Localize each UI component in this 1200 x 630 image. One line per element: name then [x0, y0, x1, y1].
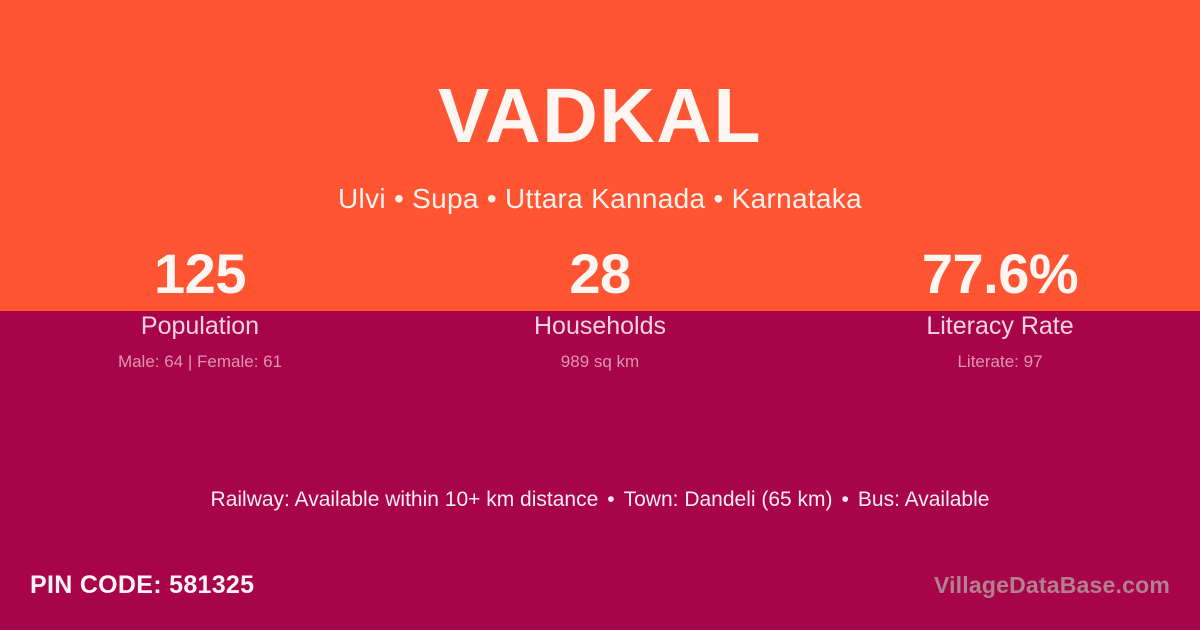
stat-label: Households — [400, 312, 800, 341]
stat-value: 28 — [400, 244, 800, 304]
stat-households: 28 Households 989 sq km — [400, 244, 800, 373]
footer: PIN CODE: 581325 VillageDataBase.com — [0, 552, 1200, 630]
stat-sublabel: Male: 64 | Female: 61 — [0, 352, 400, 372]
amenity-separator: • — [833, 488, 858, 511]
breadcrumb: Ulvi • Supa • Uttara Kannada • Karnataka — [0, 182, 1200, 216]
pin-code: PIN CODE: 581325 — [30, 571, 254, 600]
amenity-separator: • — [598, 488, 623, 511]
brand-watermark: VillageDataBase.com — [934, 572, 1170, 599]
page-title: VADKAL — [0, 78, 1200, 155]
stat-literacy-rate: 77.6% Literacy Rate Literate: 97 — [800, 244, 1200, 373]
stat-sublabel: 989 sq km — [400, 352, 800, 372]
stat-value: 77.6% — [800, 244, 1200, 304]
stat-population: 125 Population Male: 64 | Female: 61 — [0, 244, 400, 373]
amenity-town: Town: Dandeli (65 km) — [624, 488, 833, 511]
stat-sublabel: Literate: 97 — [800, 352, 1200, 372]
stats-row: 125 Population Male: 64 | Female: 61 28 … — [0, 244, 1200, 373]
stat-label: Literacy Rate — [800, 312, 1200, 341]
village-info-card: VADKAL Ulvi • Supa • Uttara Kannada • Ka… — [0, 0, 1200, 630]
amenities-line: Railway: Available within 10+ km distanc… — [0, 486, 1200, 513]
stat-value: 125 — [0, 244, 400, 304]
amenity-railway: Railway: Available within 10+ km distanc… — [211, 488, 599, 511]
stat-label: Population — [0, 312, 400, 341]
amenity-bus: Bus: Available — [858, 488, 990, 511]
